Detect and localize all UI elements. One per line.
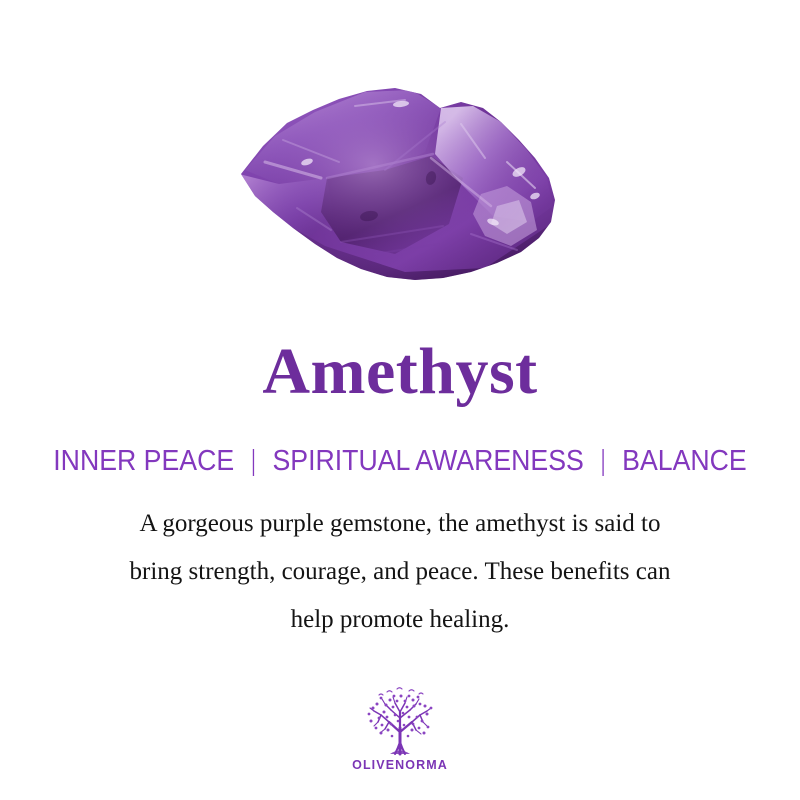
keyword-balance: BALANCE (622, 443, 747, 479)
description-line: help promote healing. (60, 596, 740, 644)
brand-name: OLIVENORMA (352, 758, 448, 772)
crystal-body (235, 66, 565, 301)
tree-of-life-icon (357, 684, 443, 756)
page-title: Amethyst (0, 336, 800, 408)
keyword-spiritual-awareness: SPIRITUAL AWARENESS (272, 443, 583, 479)
amethyst-crystal-illustration (235, 66, 565, 301)
keyword-separator: | (246, 443, 260, 479)
description-line: A gorgeous purple gemstone, the amethyst… (60, 500, 740, 548)
keyword-inner-peace: INNER PEACE (53, 443, 234, 479)
keyword-separator: | (596, 443, 610, 479)
description-text: A gorgeous purple gemstone, the amethyst… (60, 500, 740, 644)
description-line: bring strength, courage, and peace. Thes… (60, 548, 740, 596)
amethyst-crystal-image (0, 58, 800, 308)
brand-logo: OLIVENORMA (0, 684, 800, 772)
amethyst-info-card: Amethyst INNER PEACE | SPIRITUAL AWARENE… (0, 0, 800, 800)
keyword-line: INNER PEACE | SPIRITUAL AWARENESS | BALA… (32, 443, 768, 479)
